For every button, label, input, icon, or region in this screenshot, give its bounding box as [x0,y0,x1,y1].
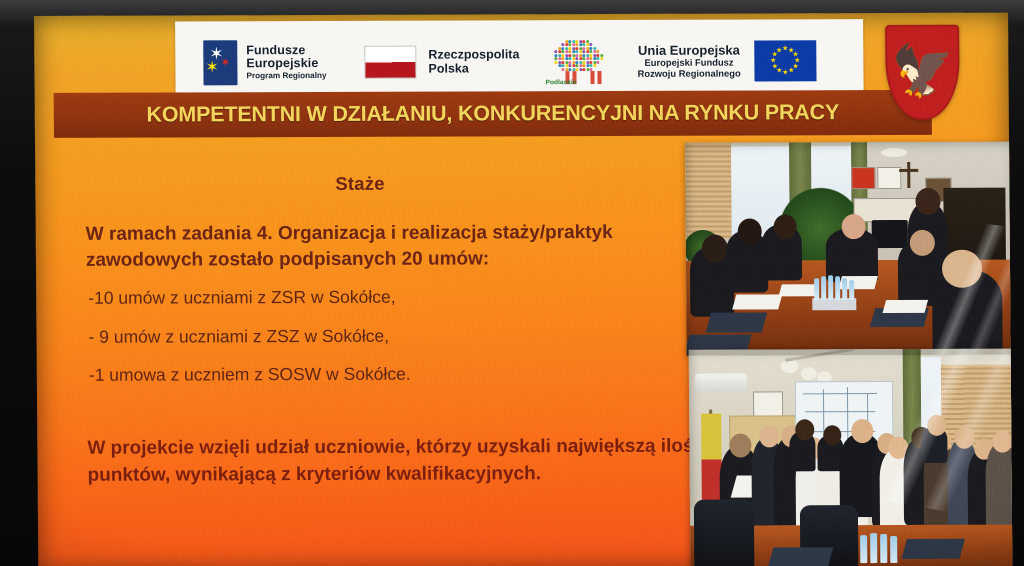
ue-line3: Rozwoju Regionalnego [638,68,741,79]
sokolka-coat-of-arms: 🦅 [885,25,960,120]
fundusze-europejskie-icon: ✶ ✶ ✶ [203,40,237,85]
photo-meeting [685,142,1012,356]
list-item: - 9 umów z uczniami z ZSZ w Sokółce, [88,326,708,346]
list-item: -10 umów z uczniami z ZSR w Sokółce, [88,288,708,308]
section-heading: Staże [335,173,385,195]
fe-line3: Program Regionalny [246,72,326,81]
contracts-list: -10 umów z uczniami z ZSR w Sokółce, - 9… [88,288,709,406]
closing-paragraph: W projekcie wzięli udział uczniowie, któ… [87,434,727,490]
eu-flag-icon: ★★★★★★★★★★★★ [754,40,816,81]
fundusze-europejskie-label: Fundusze Europejskie Program Regionalny [246,44,326,80]
lead-paragraph: W ramach zadania 4. Organizacja i realiz… [86,220,696,274]
fe-line2: Europejskie [246,57,326,70]
slide-title: KOMPETENTNI W DZIAŁANIU, KONKURENCYJNI N… [146,100,839,127]
projected-screen-photo: ✶ ✶ ✶ Fundusze Europejskie Program Regio… [0,0,1024,566]
presentation-slide: ✶ ✶ ✶ Fundusze Europejskie Program Regio… [34,13,1012,566]
slide-title-banner: KOMPETENTNI W DZIAŁANIU, KONKURENCYJNI N… [54,90,932,138]
eagle-icon: 🦅 [891,45,954,95]
photo-group [689,349,1013,566]
podlaskie-caption: Podlaskie [546,79,577,86]
logo-unia-europejska: Unia Europejska Europejski Fundusz Rozwo… [615,40,816,82]
logo-rzeczpospolita-polska: Rzeczpospolita Polska [326,45,519,79]
unia-europejska-label: Unia Europejska Europejski Fundusz Rozwo… [637,44,740,79]
podlaskie-bison-icon: Podlaskie [545,36,609,86]
rzeczpospolita-label: Rzeczpospolita Polska [428,48,519,75]
list-item: -1 umowa z uczniem z SOSW w Sokółce. [89,365,709,385]
logo-fundusze-europejskie: ✶ ✶ ✶ Fundusze Europejskie Program Regio… [175,40,326,86]
poland-flag-icon [364,46,416,79]
rp-line2: Polska [428,62,519,76]
rp-line1: Rzeczpospolita [428,48,519,62]
logo-podlaskie: Podlaskie [519,36,615,86]
